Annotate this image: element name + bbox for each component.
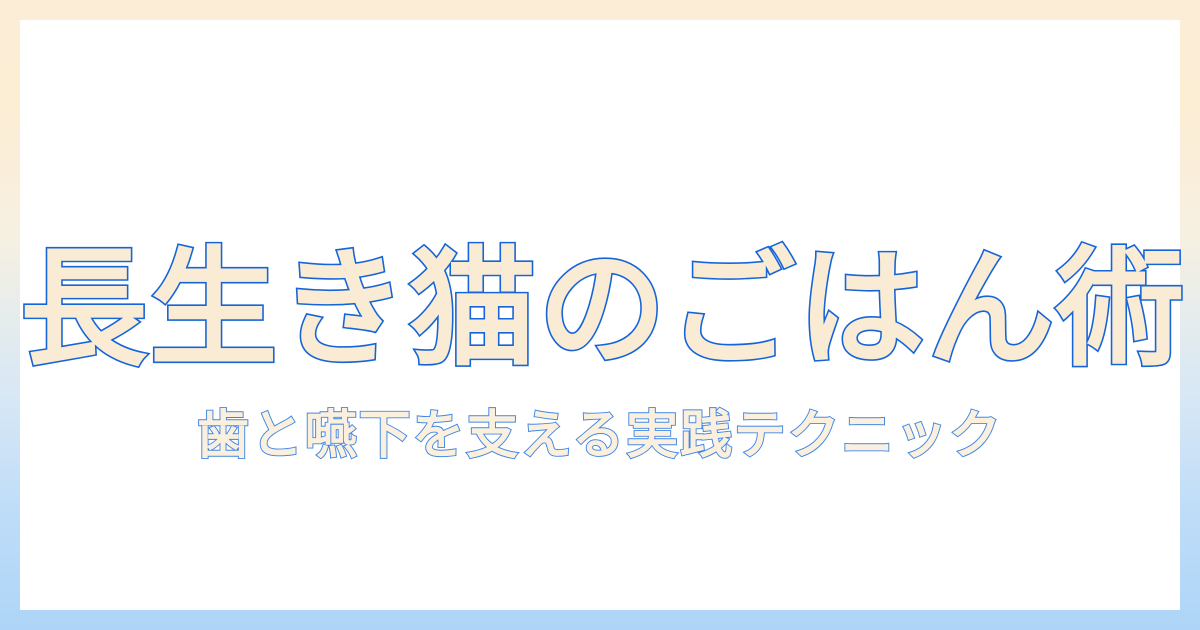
page-subtitle: 歯と嚥下を支える実践テクニック [20, 410, 1180, 462]
hero-content: 長生き猫のごはん術 歯と嚥下を支える実践テクニック [20, 20, 1180, 610]
page-title: 長生き猫のごはん術 [20, 246, 1180, 374]
hero-banner: 長生き猫のごはん術 歯と嚥下を支える実践テクニック [0, 0, 1200, 630]
